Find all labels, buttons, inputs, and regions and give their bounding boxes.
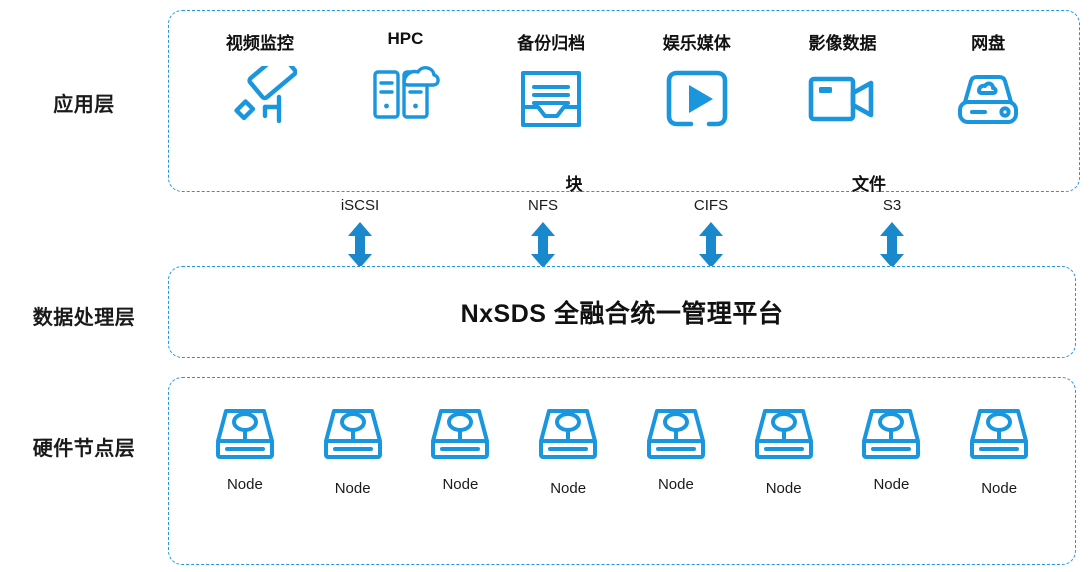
protocol-label: CIFS	[666, 198, 756, 213]
node-label: Node	[442, 476, 478, 493]
hardware-layer-box: Node Node	[168, 377, 1076, 565]
node-label: Node	[658, 476, 694, 493]
app-item-entertainment-media[interactable]: 娱乐媒体	[632, 29, 762, 132]
video-camera-icon	[805, 66, 879, 132]
storage-node-icon	[429, 406, 491, 462]
node-label: Node	[766, 480, 802, 497]
app-item-cloud-disk[interactable]: 网盘	[923, 29, 1053, 132]
storage-type-file: 文件	[829, 170, 909, 195]
node-item[interactable]: Node	[953, 406, 1045, 497]
cloud-drive-icon	[951, 66, 1025, 132]
protocol-label: S3	[847, 198, 937, 213]
storage-node-icon	[860, 406, 922, 462]
node-item[interactable]: Node	[522, 406, 614, 497]
node-label: Node	[873, 476, 909, 493]
node-label: Node	[981, 480, 1017, 497]
app-item-backup-archive[interactable]: 备份归档	[486, 29, 616, 132]
app-item-label: 备份归档	[517, 29, 585, 54]
protocol-label: iSCSI	[315, 198, 405, 213]
platform-title: NxSDS 全融合统一管理平台	[169, 267, 1075, 357]
app-item-label: 娱乐媒体	[663, 29, 731, 54]
node-label: Node	[550, 480, 586, 497]
node-item[interactable]: Node	[845, 406, 937, 493]
node-label: Node	[335, 480, 371, 497]
protocol-connector-s3: S3	[847, 198, 937, 269]
storage-node-icon	[537, 406, 599, 462]
double-arrow-vertical-icon	[498, 221, 588, 269]
surveillance-camera-icon	[223, 66, 297, 132]
node-item[interactable]: Node	[414, 406, 506, 493]
archive-box-icon	[514, 66, 588, 132]
node-row: Node Node	[191, 406, 1053, 497]
app-item-label: 影像数据	[808, 29, 876, 54]
node-item[interactable]: Node	[630, 406, 722, 493]
storage-node-icon	[968, 406, 1030, 462]
storage-node-icon	[645, 406, 707, 462]
app-item-label: 网盘	[971, 29, 1005, 54]
protocol-connector-cifs: CIFS	[666, 198, 756, 269]
app-item-hpc[interactable]: HPC	[340, 29, 470, 127]
protocol-connector-iscsi: iSCSI	[315, 198, 405, 269]
protocol-label: NFS	[498, 198, 588, 213]
data-processing-layer-box: NxSDS 全融合统一管理平台	[168, 266, 1076, 358]
storage-node-icon	[322, 406, 384, 462]
storage-node-icon	[214, 406, 276, 462]
layer-label-hardware: 硬件节点层	[0, 437, 168, 461]
app-item-image-data[interactable]: 影像数据	[777, 29, 907, 132]
node-label: Node	[227, 476, 263, 493]
node-item[interactable]: Node	[738, 406, 830, 497]
double-arrow-vertical-icon	[847, 221, 937, 269]
layer-label-data-processing: 数据处理层	[0, 306, 168, 330]
node-item[interactable]: Node	[307, 406, 399, 497]
app-item-video-surveillance[interactable]: 视频监控	[195, 29, 325, 132]
storage-type-block: 块	[534, 170, 614, 195]
application-layer-box: 视频监控 HPC	[168, 10, 1080, 192]
protocol-connector-nfs: NFS	[498, 198, 588, 269]
media-play-icon	[660, 66, 734, 132]
double-arrow-vertical-icon	[666, 221, 756, 269]
storage-node-icon	[753, 406, 815, 462]
double-arrow-vertical-icon	[315, 221, 405, 269]
architecture-diagram: 应用层 数据处理层 硬件节点层 视频监控	[0, 0, 1090, 572]
layer-label-application: 应用层	[0, 93, 168, 117]
application-items-row: 视频监控 HPC	[169, 29, 1079, 159]
app-item-label: 视频监控	[226, 29, 294, 54]
node-item[interactable]: Node	[199, 406, 291, 493]
server-cloud-icon	[368, 61, 442, 127]
app-item-label: HPC	[388, 29, 424, 49]
